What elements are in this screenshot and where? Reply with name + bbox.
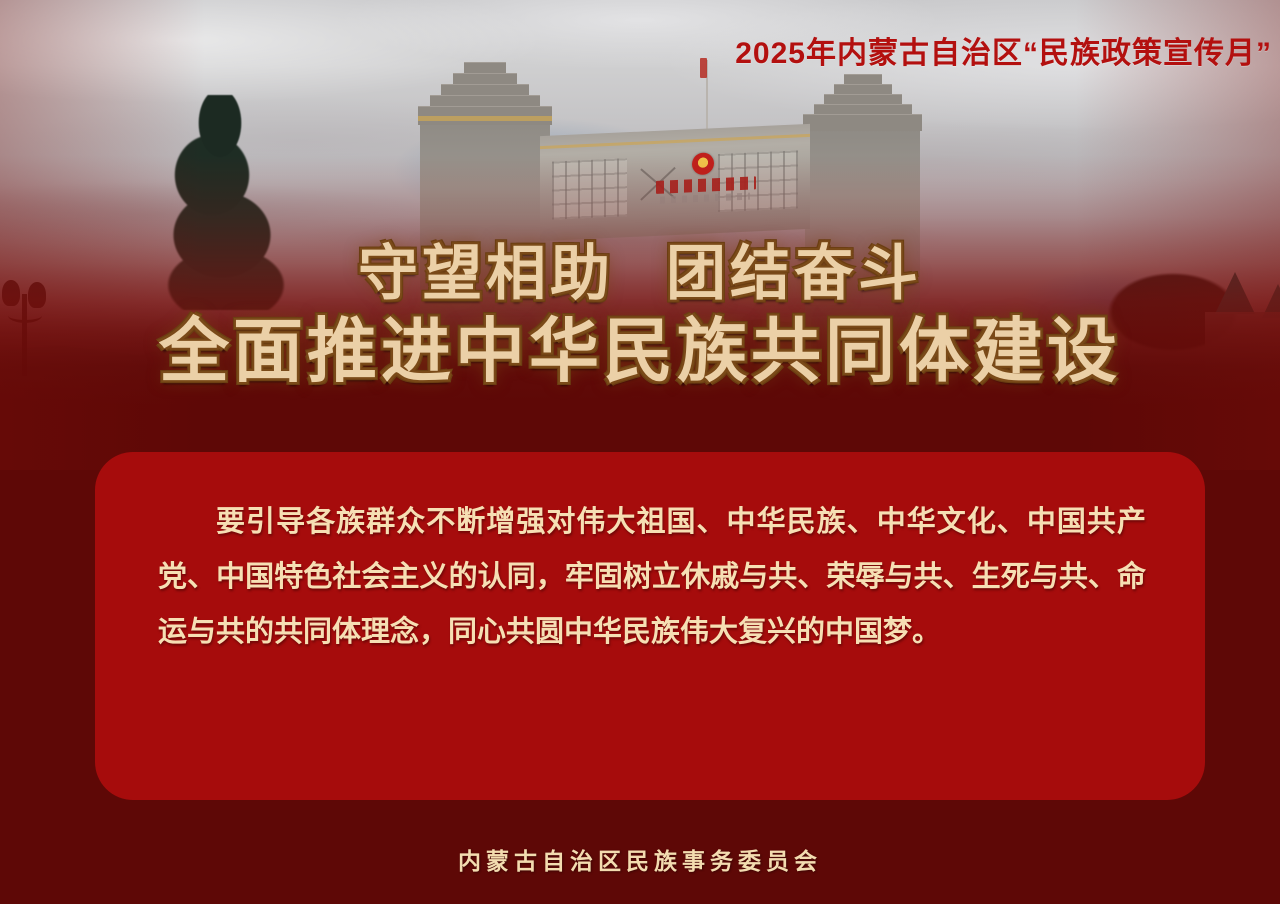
- poster-header-banner: 2025年内蒙古自治区“民族政策宣传月”: [735, 28, 1272, 72]
- footer-organization: 内蒙古自治区民族事务委员会: [0, 842, 1280, 876]
- quote-card: 要引导各族群众不断增强对伟大祖国、中华民族、中华文化、中国共产党、中国特色社会主…: [95, 452, 1205, 800]
- quote-body-text: 要引导各族群众不断增强对伟大祖国、中华民族、中华文化、中国共产党、中国特色社会主…: [158, 494, 1146, 659]
- poster-root: 2025年内蒙古自治区“民族政策宣传月” 守望相助团结奋斗 全面推进中华民族共同…: [0, 0, 1280, 904]
